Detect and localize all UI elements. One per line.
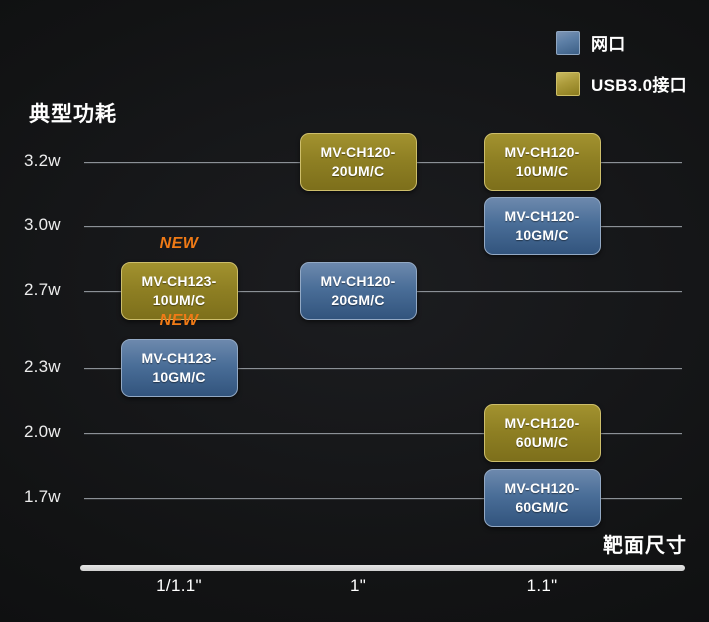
product-chip-line-1: MV-CH123- <box>142 349 217 368</box>
product-chip-line-2: 10GM/C <box>515 226 568 245</box>
y-axis-tick-label: 2.3w <box>24 357 80 377</box>
product-chip-line-2: 10UM/C <box>153 291 206 310</box>
product-chip[interactable]: MV-CH120-10UM/C <box>484 133 601 191</box>
x-axis-tick-label: 1/1.1" <box>109 576 249 596</box>
product-chip-line-2: 20UM/C <box>332 162 385 181</box>
x-axis-title: 靶面尺寸 <box>603 529 687 558</box>
legend-swatch-net-icon <box>556 31 580 55</box>
chart-legend: 网口 USB3.0接口 <box>556 30 706 112</box>
product-chip[interactable]: MV-CH123-10GM/C <box>121 339 238 397</box>
product-chip-line-2: 20GM/C <box>331 291 384 310</box>
product-chip-line-1: MV-CH120- <box>321 272 396 291</box>
product-chip[interactable]: MV-CH120-20UM/C <box>300 133 417 191</box>
product-chip-line-1: MV-CH123- <box>142 272 217 291</box>
product-chip-line-2: 10UM/C <box>516 162 569 181</box>
product-chip-line-1: MV-CH120- <box>505 414 580 433</box>
legend-swatch-usb-icon <box>556 72 580 96</box>
new-badge: NEW <box>121 235 238 253</box>
new-badge: NEW <box>121 312 238 330</box>
product-chip[interactable]: MV-CH120-60UM/C <box>484 404 601 462</box>
y-axis-tick-label: 2.0w <box>24 422 80 442</box>
product-chip-line-2: 10GM/C <box>152 368 205 387</box>
product-chip-line-1: MV-CH120- <box>505 143 580 162</box>
legend-item-net: 网口 <box>556 30 706 55</box>
y-axis-tick-label: 2.7w <box>24 280 80 300</box>
product-chip-line-1: MV-CH120- <box>505 207 580 226</box>
legend-label-usb: USB3.0接口 <box>591 71 687 96</box>
legend-label-net: 网口 <box>591 30 626 55</box>
product-chip-line-2: 60UM/C <box>516 433 569 452</box>
power-consumption-chart: 网口 USB3.0接口 典型功耗 靶面尺寸 3.2wMV-CH120-20UM/… <box>0 0 709 622</box>
y-axis-tick-label: 1.7w <box>24 487 80 507</box>
x-axis-baseline <box>80 565 685 571</box>
x-axis-tick-label: 1" <box>288 576 428 596</box>
legend-item-usb: USB3.0接口 <box>556 71 706 96</box>
product-chip[interactable]: MV-CH120-60GM/C <box>484 469 601 527</box>
x-axis-tick-label: 1.1" <box>472 576 612 596</box>
y-axis-tick-label: 3.2w <box>24 151 80 171</box>
y-axis-tick-label: 3.0w <box>24 215 80 235</box>
product-chip-line-1: MV-CH120- <box>505 479 580 498</box>
product-chip[interactable]: MV-CH120-20GM/C <box>300 262 417 320</box>
product-chip-line-1: MV-CH120- <box>321 143 396 162</box>
product-chip[interactable]: MV-CH120-10GM/C <box>484 197 601 255</box>
product-chip-line-2: 60GM/C <box>515 498 568 517</box>
y-axis-title: 典型功耗 <box>29 98 117 128</box>
